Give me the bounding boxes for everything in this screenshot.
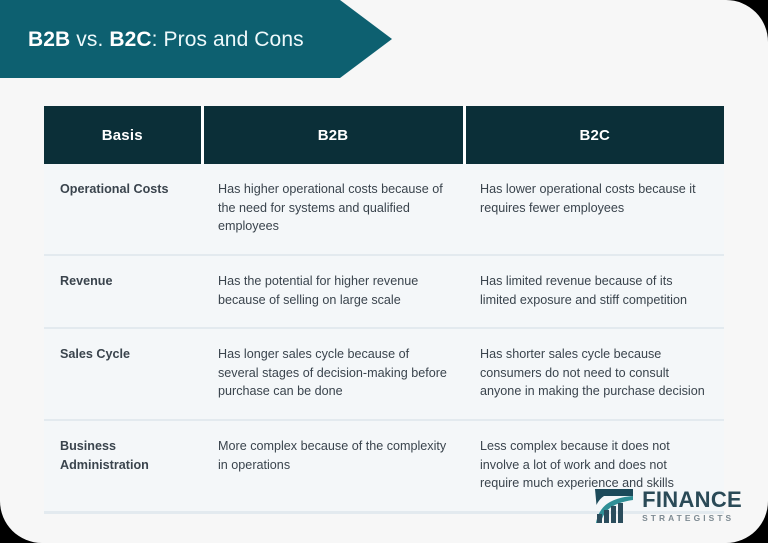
table-row: Sales Cycle Has longer sales cycle becau…	[44, 328, 724, 420]
table-header: Basis B2B B2C	[44, 106, 724, 164]
cell-basis: Revenue	[44, 255, 202, 328]
column-header-b2c: B2C	[464, 106, 724, 164]
cell-b2b: More complex because of the complexity i…	[202, 420, 464, 512]
cell-b2b: Has longer sales cycle because of severa…	[202, 328, 464, 420]
table-row: Revenue Has the potential for higher rev…	[44, 255, 724, 328]
cell-b2b: Has higher operational costs because of …	[202, 164, 464, 255]
table-body: Operational Costs Has higher operational…	[44, 164, 724, 512]
comparison-table: Basis B2B B2C Operational Costs Has high…	[44, 106, 724, 514]
cell-b2b: Has the potential for higher revenue bec…	[202, 255, 464, 328]
title-banner: B2B vs. B2C: Pros and Cons	[0, 0, 392, 78]
brand-logo: FINANCE STRATEGISTS	[593, 487, 742, 525]
page-root: B2B vs. B2C: Pros and Cons Basis B2B B2C	[0, 0, 768, 543]
brand-name-primary: FINANCE	[642, 489, 742, 511]
title-tail: : Pros and Cons	[152, 28, 304, 51]
title-bold-b2b: B2B	[28, 28, 70, 51]
cell-b2c: Has shorter sales cycle because consumer…	[464, 328, 724, 420]
content-card: B2B vs. B2C: Pros and Cons Basis B2B B2C	[0, 0, 768, 543]
title-mid: vs.	[70, 28, 109, 51]
column-header-basis: Basis	[44, 106, 202, 164]
table-header-row: Basis B2B B2C	[44, 106, 724, 164]
comparison-table-wrapper: Basis B2B B2C Operational Costs Has high…	[44, 106, 724, 514]
column-header-b2b: B2B	[202, 106, 464, 164]
cell-basis: Business Administration	[44, 420, 202, 512]
cell-b2c: Has limited revenue because of its limit…	[464, 255, 724, 328]
page-title: B2B vs. B2C: Pros and Cons	[0, 29, 304, 50]
finance-strategists-chart-icon	[593, 487, 635, 525]
brand-logo-text: FINANCE STRATEGISTS	[642, 489, 742, 522]
table-row: Operational Costs Has higher operational…	[44, 164, 724, 255]
cell-basis: Sales Cycle	[44, 328, 202, 420]
cell-b2c: Has lower operational costs because it r…	[464, 164, 724, 255]
brand-name-secondary: STRATEGISTS	[642, 514, 742, 522]
title-bold-b2c: B2C	[109, 28, 151, 51]
cell-basis: Operational Costs	[44, 164, 202, 255]
